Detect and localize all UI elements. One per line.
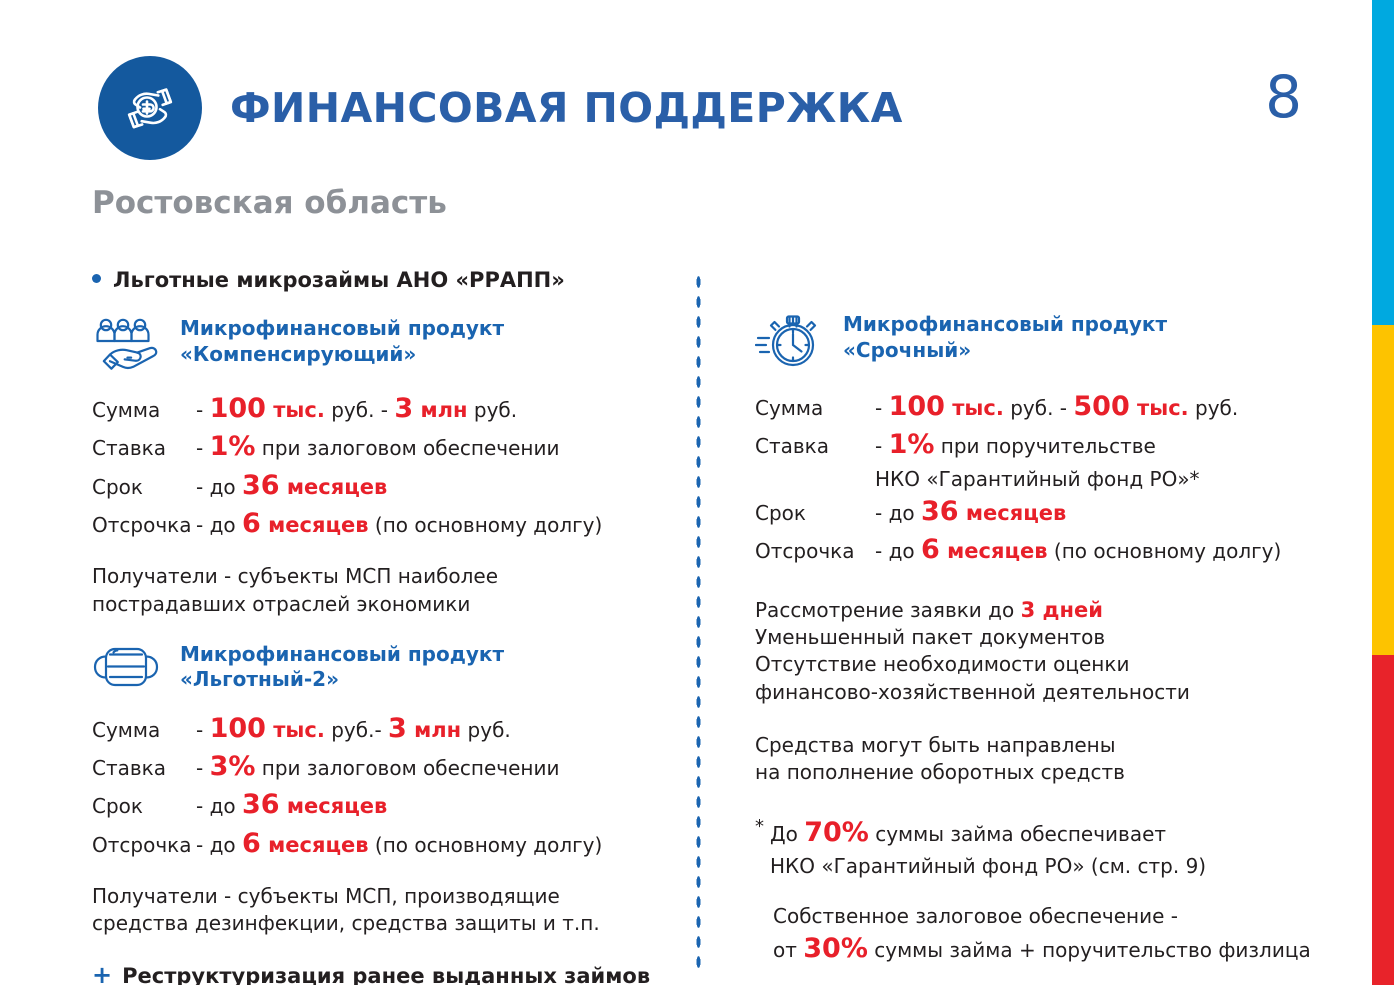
text-fragment: 1% [210, 431, 256, 462]
product-title-line1: Микрофинансовый продукт [843, 312, 1167, 336]
spec-value: - 100 тыс. руб. - 3 млн руб. [196, 390, 672, 428]
spec-value: - 1% при залоговом обеспечении [196, 428, 672, 466]
product-specs: Сумма- 100 тыс. руб.- 3 млн руб.Ставка- … [92, 710, 672, 863]
product-kompensiruyushchiy: Микрофинансовый продукт «Компенсирующий» [92, 314, 672, 376]
product-title-line1: Микрофинансовый продукт [180, 316, 504, 340]
text-fragment: - до [196, 833, 242, 857]
spec-row: Срок- до 36 месяцев [92, 786, 672, 824]
spec-row: Срок- до 36 месяцев [92, 467, 672, 505]
spec-label: Сумма [92, 396, 196, 424]
column-divider [695, 272, 702, 972]
text-line: Средства могут быть направлены [755, 732, 1315, 759]
page-number: 8 [1265, 68, 1302, 126]
text-fragment: - [875, 396, 889, 420]
product-note: Получатели - субъекты МСП, производящие … [92, 883, 672, 937]
text-fragment: от [773, 938, 803, 962]
spec-value: - до 36 месяцев [196, 786, 672, 824]
product-title-line2: «Срочный» [843, 338, 971, 362]
text-fragment: (по основному долгу) [1048, 539, 1282, 563]
text-fragment: млн [407, 718, 461, 742]
text-fragment: на пополнение оборотных средств [755, 760, 1125, 784]
text-fragment: - до [875, 501, 921, 525]
product-srochnyy: Микрофинансовый продукт «Срочный» [755, 310, 1315, 374]
spec-value: - до 6 месяцев (по основному долгу) [196, 505, 672, 543]
text-fragment: 100 [210, 393, 266, 424]
text-fragment: тыс. [266, 718, 325, 742]
restructuring-item: + Реструктуризация ранее выданных займов [92, 961, 672, 985]
stopwatch-icon [755, 310, 827, 374]
text-fragment: - [196, 718, 210, 742]
spec-label: Срок [92, 792, 196, 820]
product-title-line1: Микрофинансовый продукт [180, 642, 504, 666]
text-fragment: - до [196, 475, 242, 499]
text-fragment: Уменьшенный пакет документов [755, 625, 1105, 649]
spec-row: Отсрочка- до 6 месяцев (по основному дол… [92, 505, 672, 543]
spec-row: Сумма- 100 тыс. руб. - 500 тыс. руб. [755, 388, 1315, 426]
text-fragment: 100 [889, 391, 945, 422]
text-fragment: при поручительстве [934, 434, 1155, 458]
text-line: от 30% суммы займа + поручительство физл… [773, 930, 1315, 968]
product-title: Микрофинансовый продукт «Компенсирующий» [180, 314, 504, 367]
text-fragment: Отсутствие необходимости оценки [755, 652, 1129, 676]
text-fragment: 500 [1073, 391, 1129, 422]
text-fragment: - [196, 756, 210, 780]
spec-label: Ставка [92, 754, 196, 782]
hands-ruble-icon [98, 56, 202, 160]
text-fragment: руб. - [1004, 396, 1074, 420]
text-fragment: 6 [242, 508, 261, 539]
rail-band-red [1372, 655, 1394, 985]
text-fragment: (по основному долгу) [369, 513, 603, 537]
text-fragment: 1% [889, 429, 935, 460]
text-line: Рассмотрение заявки до 3 дней [755, 596, 1315, 625]
text-fragment: руб. - [325, 398, 395, 422]
spec-row: Сумма- 100 тыс. руб. - 3 млн руб. [92, 390, 672, 428]
bullet-dot-icon [92, 274, 101, 283]
text-fragment: при залоговом обеспечении [255, 756, 559, 780]
spec-label: Ставка [755, 432, 875, 460]
text-fragment: НКО «Гарантийный фонд РО»* [875, 467, 1200, 491]
spec-row: Отсрочка- до 6 месяцев (по основному дол… [92, 825, 672, 863]
rail-band-cyan [1372, 0, 1394, 325]
text-fragment: Рассмотрение заявки до [755, 598, 1021, 622]
text-fragment: - до [196, 513, 242, 537]
spec-label: Сумма [92, 716, 196, 744]
spec-row: Срок- до 36 месяцев [755, 493, 1315, 531]
right-column: Микрофинансовый продукт «Срочный» Сумма-… [755, 310, 1315, 968]
spec-label: Срок [755, 499, 875, 527]
product-title-line2: «Льготный-2» [180, 667, 339, 691]
product-title: Микрофинансовый продукт «Срочный» [843, 310, 1167, 363]
left-section-heading-text: Льготные микрозаймы АНО «РРАПП» [113, 268, 565, 292]
text-fragment: 6 [242, 828, 261, 859]
left-section-heading: Льготные микрозаймы АНО «РРАПП» [92, 268, 672, 292]
spec-value: НКО «Гарантийный фонд РО»* [875, 465, 1315, 493]
text-fragment: 6 [921, 534, 940, 565]
text-fragment: тыс. [945, 396, 1004, 420]
text-line: До 70% суммы займа обеспечивает [770, 814, 1315, 852]
spec-label: Ставка [92, 434, 196, 462]
text-fragment: руб.- [325, 718, 388, 742]
footnote-body: До 70% суммы займа обеспечиваетНКО «Гара… [770, 814, 1315, 880]
benefits-list: Рассмотрение заявки до 3 днейУменьшенный… [755, 596, 1315, 706]
text-fragment: суммы займа обеспечивает [869, 822, 1166, 846]
text-fragment: месяцев [959, 501, 1067, 525]
text-fragment: при залоговом обеспечении [255, 436, 559, 460]
text-fragment: Средства могут быть направлены [755, 733, 1116, 757]
text-fragment: 36 [921, 496, 959, 527]
text-fragment: 3% [210, 751, 256, 782]
text-line: финансово-хозяйственной деятельности [755, 679, 1315, 706]
text-fragment: - [196, 436, 210, 460]
text-fragment: руб. [1189, 396, 1239, 420]
plus-icon: + [92, 961, 112, 985]
spec-value: - 1% при поручительстве [875, 426, 1315, 464]
spec-value: - до 36 месяцев [196, 467, 672, 505]
note-line: средства дезинфекции, средства защиты и … [92, 911, 600, 935]
text-fragment: финансово-хозяйственной деятельности [755, 680, 1190, 704]
text-fragment: - до [875, 539, 921, 563]
text-fragment: 30% [803, 933, 868, 964]
text-fragment: месяцев [261, 833, 369, 857]
spec-value: - 100 тыс. руб. - 500 тыс. руб. [875, 388, 1315, 426]
spec-value: - до 6 месяцев (по основному долгу) [196, 825, 672, 863]
slide-header: ФИНАНСОВАЯ ПОДДЕРЖКА [98, 56, 903, 160]
text-fragment: тыс. [1130, 396, 1189, 420]
text-line: Отсутствие необходимости оценки [755, 651, 1315, 678]
text-fragment: руб. [461, 718, 511, 742]
spec-row: НКО «Гарантийный фонд РО»* [755, 465, 1315, 493]
face-mask-icon [92, 640, 164, 696]
text-line: НКО «Гарантийный фонд РО» (см. стр. 9) [770, 852, 1315, 880]
text-fragment: 70% [804, 817, 869, 848]
product-title: Микрофинансовый продукт «Льготный-2» [180, 640, 504, 693]
spec-value: - до 36 месяцев [875, 493, 1315, 531]
text-line: Уменьшенный пакет документов [755, 624, 1315, 651]
usage-note: Средства могут быть направленына пополне… [755, 732, 1315, 786]
people-hand-icon [92, 314, 164, 376]
restructuring-text: Реструктуризация ранее выданных займов [122, 964, 650, 985]
spec-row: Ставка- 1% при залоговом обеспечении [92, 428, 672, 466]
text-fragment: Собственное залоговое обеспечение - [773, 904, 1178, 928]
text-fragment: суммы займа + поручительство физлица [868, 938, 1311, 962]
region-name: Ростовская область [92, 185, 447, 221]
text-fragment: руб. [468, 398, 518, 422]
text-line: Собственное залоговое обеспечение - [773, 902, 1315, 930]
text-fragment: месяцев [280, 794, 388, 818]
text-fragment: - [875, 434, 889, 458]
text-fragment: 36 [242, 789, 280, 820]
product-note: Получатели - субъекты МСП наиболее постр… [92, 563, 672, 617]
product-specs: Сумма- 100 тыс. руб. - 3 млн руб.Ставка-… [92, 390, 672, 543]
spec-label: Отсрочка [92, 831, 196, 859]
product-specs: Сумма- 100 тыс. руб. - 500 тыс. руб.Став… [755, 388, 1315, 570]
text-fragment: 3 [394, 393, 413, 424]
spec-label: Сумма [755, 394, 875, 422]
spec-row: Отсрочка- до 6 месяцев (по основному дол… [755, 531, 1315, 569]
text-fragment: млн [413, 398, 467, 422]
spec-label: Срок [92, 473, 196, 501]
spec-value: - 3% при залоговом обеспечении [196, 748, 672, 786]
product-title-line2: «Компенсирующий» [180, 342, 416, 366]
text-fragment: - [196, 398, 210, 422]
product-lgotnyy-2: Микрофинансовый продукт «Льготный-2» [92, 640, 672, 696]
left-column: Льготные микрозаймы АНО «РРАПП» [92, 268, 672, 985]
spec-value: - до 6 месяцев (по основному долгу) [875, 531, 1315, 569]
text-fragment: месяцев [940, 539, 1048, 563]
text-fragment: 3 [388, 713, 407, 744]
spec-row: Ставка- 3% при залоговом обеспечении [92, 748, 672, 786]
text-fragment: 100 [210, 713, 266, 744]
spec-label: Отсрочка [92, 511, 196, 539]
spec-label: Отсрочка [755, 537, 875, 565]
note-line: Получатели - субъекты МСП, производящие [92, 884, 560, 908]
note-line: пострадавших отраслей экономики [92, 592, 470, 616]
text-fragment: тыс. [266, 398, 325, 422]
text-fragment: До [770, 822, 804, 846]
text-line: на пополнение оборотных средств [755, 759, 1315, 786]
footnote-collateral: Собственное залоговое обеспечение -от 30… [755, 902, 1315, 968]
footnote-star: * [755, 814, 764, 880]
note-line: Получатели - субъекты МСП наиболее [92, 564, 498, 588]
rail-band-yellow [1372, 325, 1394, 655]
text-fragment: - до [196, 794, 242, 818]
text-fragment: НКО «Гарантийный фонд РО» (см. стр. 9) [770, 854, 1206, 878]
page-title: ФИНАНСОВАЯ ПОДДЕРЖКА [230, 84, 903, 132]
text-fragment: 36 [242, 470, 280, 501]
footnote-guarantee: * До 70% суммы займа обеспечиваетНКО «Га… [755, 814, 1315, 880]
text-fragment: месяцев [261, 513, 369, 537]
spec-row: Ставка- 1% при поручительстве [755, 426, 1315, 464]
slide-root: ФИНАНСОВАЯ ПОДДЕРЖКА 8 Ростовская област… [0, 0, 1394, 985]
spec-value: - 100 тыс. руб.- 3 млн руб. [196, 710, 672, 748]
text-fragment: месяцев [280, 475, 388, 499]
text-fragment: (по основному долгу) [369, 833, 603, 857]
spec-row: Сумма- 100 тыс. руб.- 3 млн руб. [92, 710, 672, 748]
text-fragment: 3 дней [1021, 598, 1103, 622]
